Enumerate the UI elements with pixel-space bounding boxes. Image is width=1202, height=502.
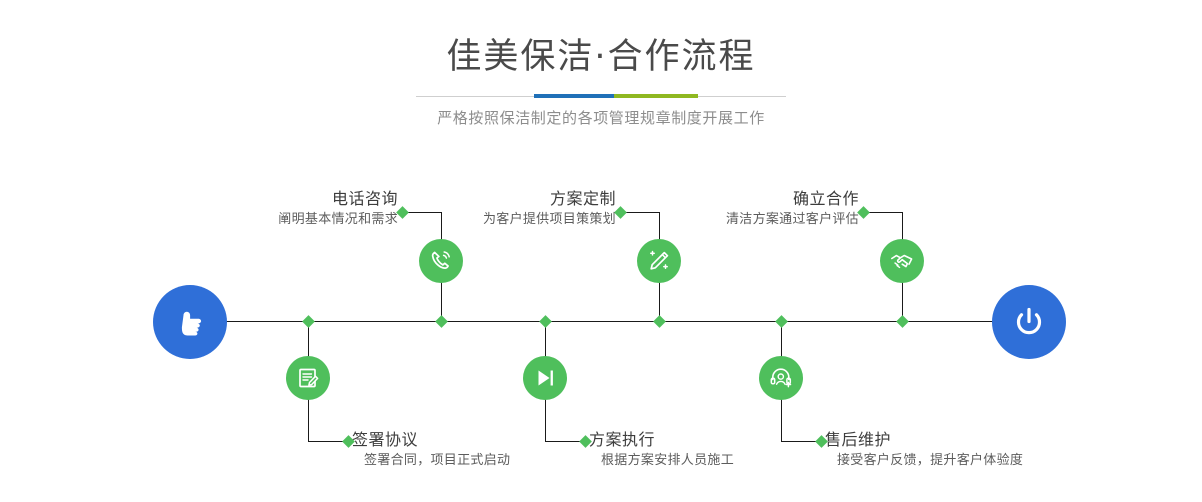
step-title-3: 方案定制 [380, 188, 616, 210]
step-icon-2[interactable] [286, 356, 330, 400]
step-title-2: 签署协议 [352, 429, 510, 451]
process-flow-infographic: 佳美保洁·合作流程 严格按照保洁制定的各项管理规章制度开展工作 [0, 0, 1202, 502]
step-desc-3: 为客户提供项目策策划 [380, 210, 616, 230]
step-icon-3[interactable] [637, 239, 681, 283]
step-title-5: 售后维护 [825, 429, 1023, 451]
step-title-1: 电话咨询 [155, 188, 398, 210]
step-icon-5[interactable] [759, 356, 803, 400]
document-sign-icon [295, 365, 321, 391]
step-label-6: 确立合作 清洁方案通过客户评估 [630, 188, 859, 230]
step-desc-1: 阐明基本情况和需求 [155, 210, 398, 230]
pointing-hand-icon [170, 302, 210, 342]
step-icon-4[interactable] [523, 356, 567, 400]
axis-diamond-step-2 [302, 315, 315, 328]
step-label-3: 方案定制 为客户提供项目策策划 [380, 188, 616, 230]
pencil-design-icon [646, 248, 672, 274]
axis-diamond-step-3 [653, 315, 666, 328]
step-label-5: 售后维护 接受客户反馈，提升客户体验度 [825, 429, 1023, 471]
connector-diamond-step-3 [614, 206, 627, 219]
step-icon-6[interactable] [880, 239, 924, 283]
phone-call-icon [428, 248, 454, 274]
axis-diamond-step-5 [775, 315, 788, 328]
axis-diamond-step-6 [896, 315, 909, 328]
step-label-1: 电话咨询 阐明基本情况和需求 [155, 188, 398, 230]
connector-diamond-step-6 [857, 206, 870, 219]
timeline-end-node [992, 285, 1066, 359]
axis-diamond-step-1 [435, 315, 448, 328]
step-label-4: 方案执行 根据方案安排人员施工 [589, 429, 734, 471]
step-label-2: 签署协议 签署合同，项目正式启动 [352, 429, 510, 471]
support-headset-icon [768, 365, 794, 391]
play-execute-icon [532, 365, 558, 391]
step-title-4: 方案执行 [589, 429, 734, 451]
power-icon [1009, 302, 1049, 342]
step-icon-1[interactable] [419, 239, 463, 283]
handshake-icon [889, 248, 915, 274]
step-desc-2: 签署合同，项目正式启动 [352, 451, 510, 471]
timeline-start-node [153, 285, 227, 359]
step-desc-6: 清洁方案通过客户评估 [630, 210, 859, 230]
step-title-6: 确立合作 [630, 188, 859, 210]
step-desc-5: 接受客户反馈，提升客户体验度 [825, 451, 1023, 471]
step-desc-4: 根据方案安排人员施工 [589, 451, 734, 471]
axis-diamond-step-4 [539, 315, 552, 328]
timeline: 电话咨询 阐明基本情况和需求 签署协议 签署合同，项目正式启动 [0, 0, 1202, 502]
